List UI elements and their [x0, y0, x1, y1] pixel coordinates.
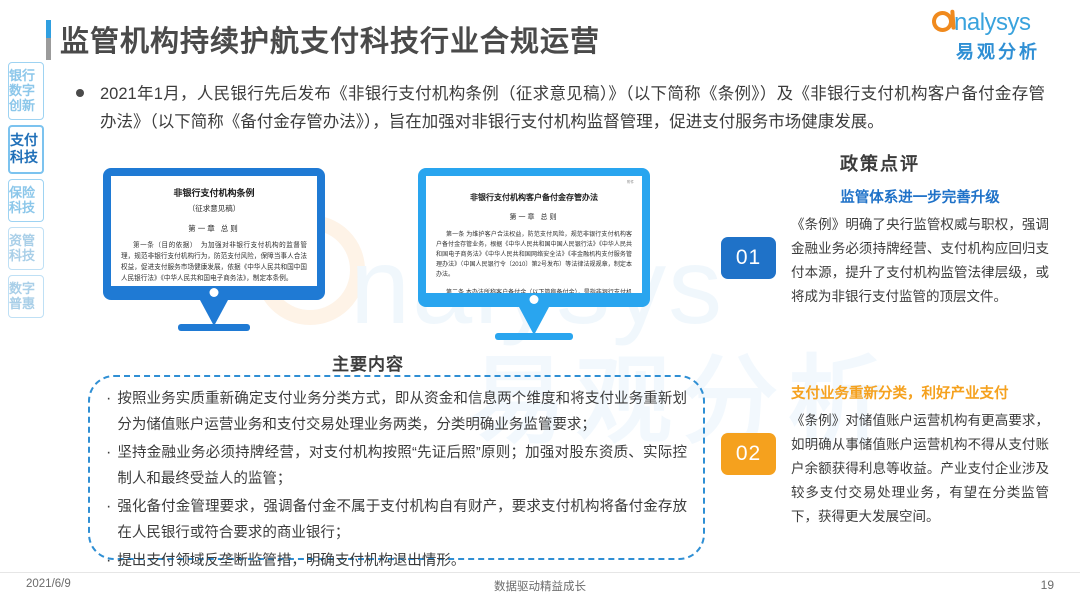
monitor-left: 非银行支付机构条例 （征求意见稿） 第一章 总则 第一条（目的依据） 为加强对非… [103, 168, 325, 300]
doc-body: 第一条（目的依据） 为加强对非银行支付机构的监督管理，规范非银行支付机构行为，防… [121, 240, 307, 284]
commentary-heading: 监管体系进一步完善升级 [791, 187, 1049, 209]
doc-chapter: 第一章 总则 [436, 212, 632, 222]
intro-bullet-icon [76, 89, 84, 97]
status-badge-01: 01 [721, 237, 776, 279]
sidebar-item-payment-tech[interactable]: 支付科技 [8, 125, 44, 174]
doc-body-second: 第二条 本办法所称客户备付金（以下简称备付金），是指非银行支付机构（以下简称支付… [436, 288, 632, 293]
commentary-body: 《条例》明确了央行监管权威与职权，强调金融业务必须持牌经营、支付机构应回归支付本… [791, 213, 1049, 309]
sidebar-item-insurance-tech[interactable]: 保险科技 [8, 179, 44, 222]
status-badge-02: 02 [721, 433, 776, 475]
badge-label: 01 [736, 246, 761, 270]
title-accent-bar [46, 20, 51, 60]
monitor-power-dot-icon [530, 295, 539, 304]
monitor-screen: 附件 非银行支付机构客户备付金存管办法 第一章 总则 第一条 为维护客户合法权益… [426, 176, 642, 293]
logo-cn-label: 易观分析 [956, 38, 1040, 64]
commentary-entry-2: 支付业务重新分类，利好产业支付 《条例》对储值账户运营机构有更高要求，如明确从事… [791, 383, 1049, 529]
monitor-bezel: 非银行支付机构条例 （征求意见稿） 第一章 总则 第一条（目的依据） 为加强对非… [103, 168, 325, 300]
monitor-screen: 非银行支付机构条例 （征求意见稿） 第一章 总则 第一条（目的依据） 为加强对非… [111, 176, 317, 286]
monitor-power-dot-icon [210, 288, 219, 297]
main-content-heading: 主要内容 [332, 350, 404, 375]
sidebar-item-asset-tech[interactable]: 资管科技 [8, 227, 44, 270]
sidebar-item-bank-digital[interactable]: 银行数字创新 [8, 62, 44, 120]
monitor-base [178, 324, 250, 331]
bullet-icon: · [106, 494, 111, 546]
monitor-bezel: 附件 非银行支付机构客户备付金存管办法 第一章 总则 第一条 为维护客户合法权益… [418, 168, 650, 307]
list-item-text: 提出支付领域反垄断监管措，明确支付机构退出情形。 [117, 548, 687, 574]
doc-body: 第一条 为维护客户合法权益，防范支付风险，规范非银行支付机构客户备付金存管业务，… [436, 230, 632, 280]
intro-paragraph: 2021年1月，人民银行先后发布《非银行支付机构条例（征求意见稿）》（以下简称《… [100, 80, 1045, 136]
badge-label: 02 [736, 442, 761, 466]
logo-wordmark: nalysys [954, 9, 1031, 37]
brand-logo: nalysys 易观分析 [926, 10, 1056, 62]
footer-slogan: 数据驱动精益成长 [0, 578, 1080, 594]
doc-title: 非银行支付机构条例 [121, 186, 307, 199]
list-item-text: 强化备付金管理要求，强调备付金不属于支付机构自有财产，要求支付机构将备付金存放在… [117, 494, 687, 546]
list-item-text: 坚持金融业务必须持牌经营，对支付机构按照“先证后照”原则；加强对股东资质、实际控… [117, 440, 687, 492]
list-item: · 按照业务实质重新确定支付业务分类方式，即从资金和信息两个维度和将支付业务重新… [106, 386, 687, 438]
main-content-box: · 按照业务实质重新确定支付业务分类方式，即从资金和信息两个维度和将支付业务重新… [88, 375, 705, 560]
bullet-icon: · [106, 440, 111, 492]
monitor-base [495, 333, 573, 340]
list-item: · 提出支付领域反垄断监管措，明确支付机构退出情形。 [106, 548, 687, 574]
list-item-text: 按照业务实质重新确定支付业务分类方式，即从资金和信息两个维度和将支付业务重新划分… [117, 386, 687, 438]
commentary-body: 《条例》对储值账户运营机构有更高要求，如明确从事储值账户运营机构不得从支付账户余… [791, 409, 1049, 529]
footer-page-number: 19 [1041, 578, 1054, 592]
footer-divider [0, 572, 1080, 573]
sidebar-item-label: 支付科技 [10, 132, 42, 166]
doc-corner-mark: 附件 [627, 180, 634, 185]
sidebar-item-label: 保险科技 [9, 185, 43, 215]
sidebar-item-label: 数字普惠 [9, 281, 43, 311]
doc-title: 非银行支付机构客户备付金存管办法 [436, 192, 632, 203]
doc-chapter: 第一章 总则 [121, 223, 307, 234]
bullet-icon: · [106, 548, 111, 574]
monitor-neck [519, 307, 549, 335]
sidebar: 银行数字创新 支付科技 保险科技 资管科技 数字普惠 [8, 62, 44, 318]
commentary-entry-1: 监管体系进一步完善升级 《条例》明确了央行监管权威与职权，强调金融业务必须持牌经… [791, 187, 1049, 309]
doc-subtitle: （征求意见稿） [121, 203, 307, 214]
monitor-right: 附件 非银行支付机构客户备付金存管办法 第一章 总则 第一条 为维护客户合法权益… [418, 168, 650, 307]
bullet-icon: · [106, 386, 111, 438]
commentary-title: 政策点评 [840, 150, 920, 176]
list-item: · 强化备付金管理要求，强调备付金不属于支付机构自有财产，要求支付机构将备付金存… [106, 494, 687, 546]
sidebar-item-digital-inclusive[interactable]: 数字普惠 [8, 275, 44, 318]
page-title: 监管机构持续护航支付科技行业合规运营 [60, 18, 600, 60]
slide-root: nalysys 易观分析 监管机构持续护航支付科技行业合规运营 nalysys … [0, 0, 1080, 608]
logo-swirl-icon [929, 8, 955, 34]
sidebar-item-label: 银行数字创新 [9, 68, 43, 113]
sidebar-item-label: 资管科技 [9, 233, 43, 263]
monitor-neck [200, 300, 228, 326]
list-item: · 坚持金融业务必须持牌经营，对支付机构按照“先证后照”原则；加强对股东资质、实… [106, 440, 687, 492]
commentary-heading: 支付业务重新分类，利好产业支付 [791, 383, 1049, 405]
